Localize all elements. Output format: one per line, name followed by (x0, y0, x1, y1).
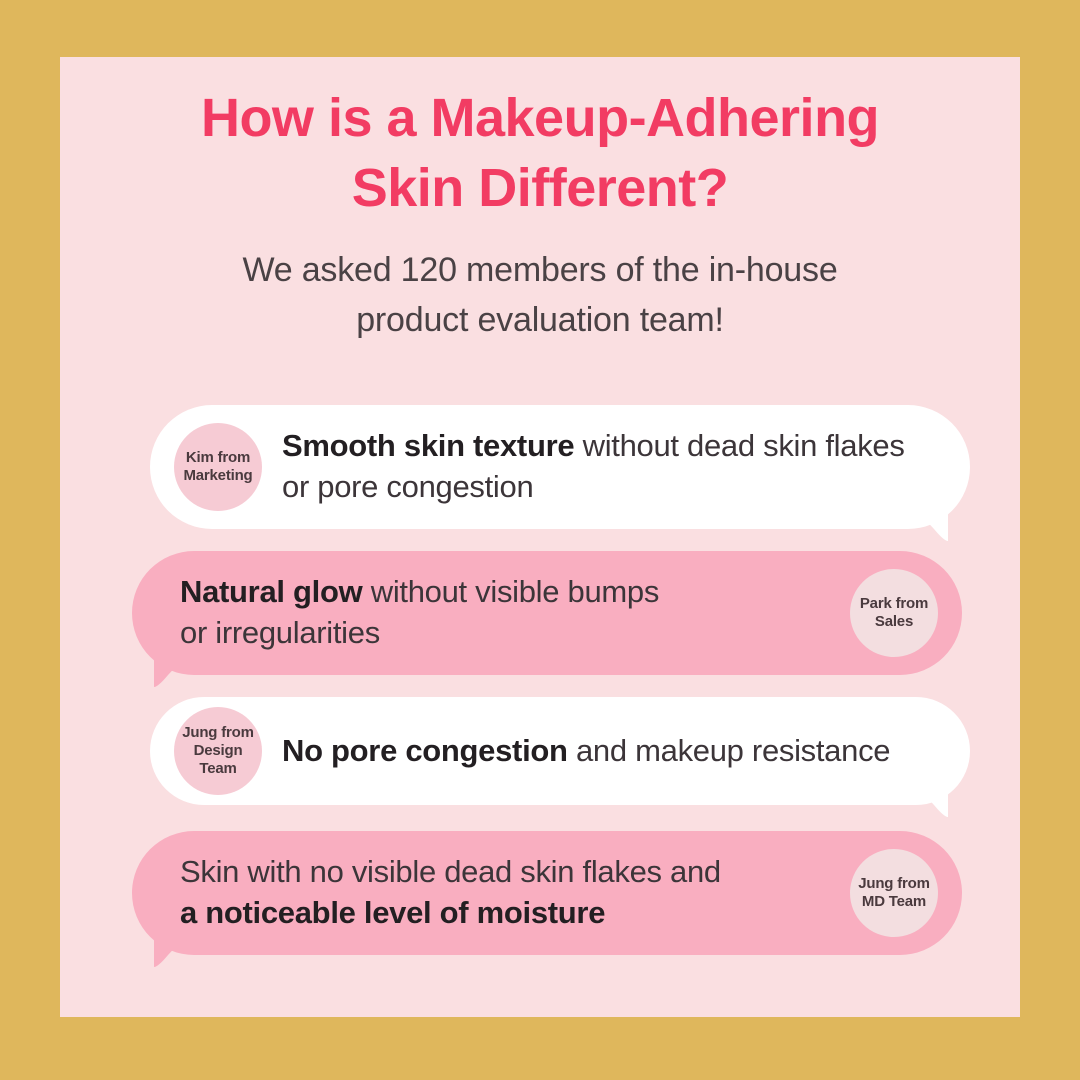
page-subtitle: We asked 120 members of the in-house pro… (60, 245, 1020, 346)
speech-bubble-4-line-2: a noticeable level of moisture (180, 893, 834, 934)
speech-bubble-1-text: Smooth skin texture without dead skin fl… (282, 426, 944, 508)
avatar-line-1: Jung from (858, 875, 930, 893)
page-title-line-2: Skin Different? (60, 153, 1020, 223)
bubble-tail-3-icon (896, 777, 948, 819)
avatar-line-2: Marketing (183, 467, 252, 485)
avatar-line-1: Park from (860, 595, 928, 613)
speech-bubble-2-text: Natural glow without visible bumps or ir… (180, 572, 834, 654)
avatar-line-2: Design (182, 742, 254, 760)
page-subtitle-line-2: product evaluation team! (60, 295, 1020, 345)
page-title-line-1: How is a Makeup-Adhering (60, 83, 1020, 153)
bubble-tail-2-icon (154, 647, 206, 689)
speech-bubble-3-text: No pore congestion and makeup resistance (282, 731, 944, 772)
speech-bubble-1-line-2: or pore congestion (282, 467, 944, 508)
speech-bubble-4[interactable]: Skin with no visible dead skin flakes an… (132, 831, 962, 955)
gold-frame: How is a Makeup-Adhering Skin Different?… (0, 0, 1080, 1080)
speech-bubble-2[interactable]: Natural glow without visible bumps or ir… (132, 551, 962, 675)
speech-bubble-4-bold-2: a noticeable level of moisture (180, 895, 605, 930)
speech-bubble-3-bold-1: No pore congestion (282, 733, 568, 768)
speech-bubble-4-text: Skin with no visible dead skin flakes an… (180, 852, 834, 934)
avatar-line-3: Team (182, 760, 254, 778)
bubble-tail-1-icon (896, 501, 948, 543)
speech-bubble-2-rest-1: without visible bumps (362, 574, 659, 609)
testimonial-row-2: Natural glow without visible bumps or ir… (60, 551, 1020, 675)
testimonial-list: Kim from Marketing Smooth skin texture w… (60, 405, 1020, 975)
avatar-line-1: Kim from (183, 449, 252, 467)
speech-bubble-1[interactable]: Kim from Marketing Smooth skin texture w… (150, 405, 970, 529)
speech-bubble-3[interactable]: Jung from Design Team No pore congestion… (150, 697, 970, 805)
speech-bubble-3-line-1: No pore congestion and makeup resistance (282, 731, 944, 772)
speech-bubble-3-rest-1: and makeup resistance (568, 733, 891, 768)
page-title: How is a Makeup-Adhering Skin Different? (60, 83, 1020, 223)
avatar-jung-from-md-team: Jung from MD Team (850, 849, 938, 937)
avatar-line-1: Jung from (182, 724, 254, 742)
content-panel: How is a Makeup-Adhering Skin Different?… (60, 57, 1020, 1017)
speech-bubble-2-line-2: or irregularities (180, 613, 834, 654)
testimonial-row-4: Skin with no visible dead skin flakes an… (60, 831, 1020, 955)
speech-bubble-1-rest-1: without dead skin flakes (574, 428, 904, 463)
bubble-tail-4-icon (154, 927, 206, 969)
testimonial-row-1: Kim from Marketing Smooth skin texture w… (60, 405, 1020, 529)
avatar-line-2: Sales (860, 613, 928, 631)
speech-bubble-2-line-1: Natural glow without visible bumps (180, 572, 834, 613)
avatar-kim-from-marketing: Kim from Marketing (174, 423, 262, 511)
avatar-park-from-sales: Park from Sales (850, 569, 938, 657)
avatar-line-2: MD Team (858, 893, 930, 911)
avatar-jung-from-design-team: Jung from Design Team (174, 707, 262, 795)
speech-bubble-1-line-1: Smooth skin texture without dead skin fl… (282, 426, 944, 467)
page-subtitle-line-1: We asked 120 members of the in-house (60, 245, 1020, 295)
speech-bubble-4-line-1: Skin with no visible dead skin flakes an… (180, 852, 834, 893)
testimonial-row-3: Jung from Design Team No pore congestion… (60, 697, 1020, 805)
speech-bubble-2-bold-1: Natural glow (180, 574, 362, 609)
speech-bubble-1-bold-1: Smooth skin texture (282, 428, 574, 463)
